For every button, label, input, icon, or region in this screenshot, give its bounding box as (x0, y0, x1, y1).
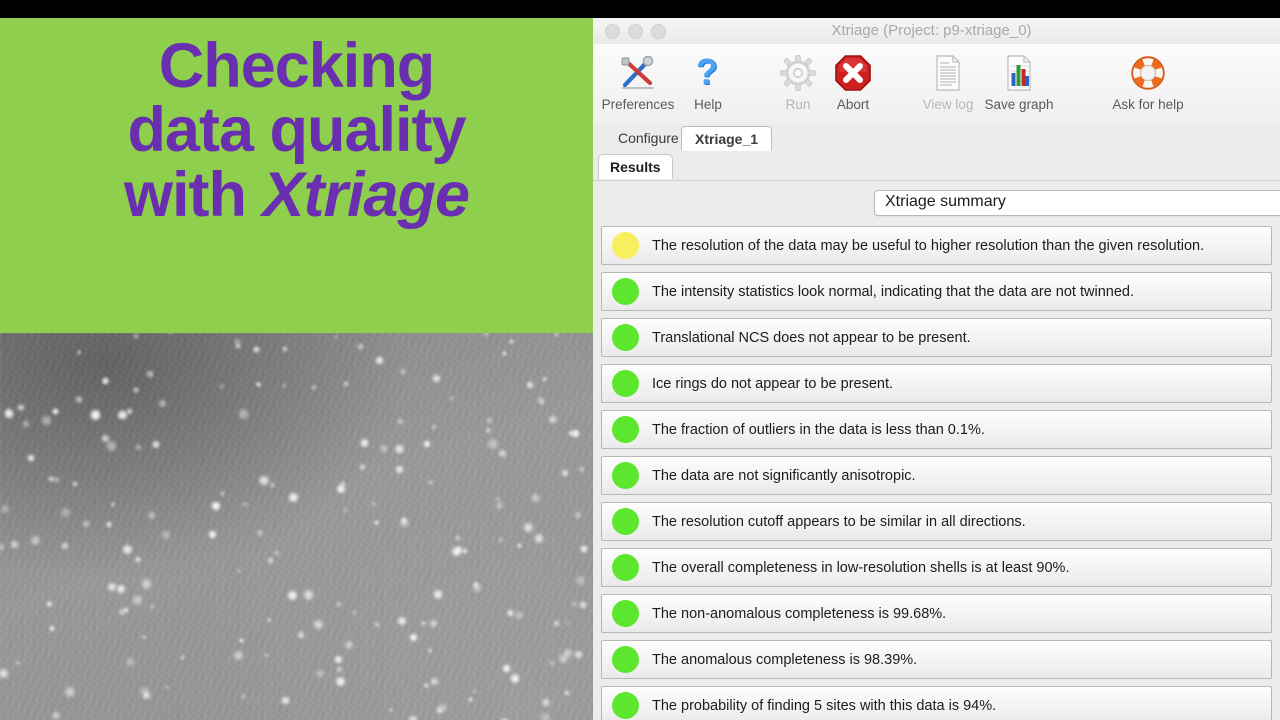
screenshot-root: Checking data quality with Xtriage Xtria… (0, 0, 1280, 720)
window-titlebar: Xtriage (Project: p9-xtriage_0) (593, 18, 1280, 45)
tab-configure[interactable]: Configure (605, 126, 692, 151)
result-row-text: The fraction of outliers in the data is … (652, 422, 985, 438)
diffraction-spot (486, 428, 491, 433)
result-row[interactable]: Translational NCS does not appear to be … (601, 318, 1272, 357)
diffraction-spot (46, 601, 52, 607)
svg-text:?: ? (696, 52, 718, 92)
diffraction-spot (4, 408, 14, 418)
title-line-3: with Xtriage (0, 163, 593, 227)
diffraction-spot (297, 631, 305, 639)
diffraction-spot (408, 715, 418, 720)
diffraction-spot (394, 444, 404, 454)
diffraction-spot (106, 521, 112, 527)
diffraction-spot (432, 374, 441, 383)
diffraction-spot (141, 578, 152, 589)
window-title: Xtriage (Project: p9-xtriage_0) (593, 22, 1280, 39)
diffraction-spot (238, 408, 249, 419)
diffraction-spot (523, 522, 534, 533)
diffraction-spot (424, 683, 428, 687)
diffraction-spot (421, 621, 426, 626)
diffraction-spot (48, 476, 55, 483)
diffraction-spot (0, 668, 9, 679)
diffraction-spot (540, 712, 551, 720)
diffraction-spot (75, 396, 82, 403)
diffraction-spot (161, 530, 171, 540)
status-ok-icon (612, 462, 639, 489)
diffraction-spot (180, 655, 185, 660)
status-ok-icon (612, 554, 639, 581)
diffraction-spot (106, 440, 117, 451)
xtriage-summary-select[interactable]: Xtriage summary (874, 190, 1280, 216)
diffraction-spot (334, 655, 343, 664)
result-row[interactable]: The intensity statistics look normal, in… (601, 272, 1272, 311)
diffraction-spot (548, 415, 557, 424)
diffraction-spot (122, 544, 133, 555)
status-ok-icon (612, 278, 639, 305)
diffraction-image (0, 333, 593, 720)
xtriage-application-window: Xtriage (Project: p9-xtriage_0) Preferen… (593, 18, 1280, 720)
diffraction-spot (502, 351, 507, 356)
toolbar-label-abort: Abort (810, 97, 896, 112)
diffraction-spot (389, 708, 393, 712)
diffraction-spot (553, 620, 560, 627)
diffraction-spot (165, 685, 170, 690)
result-row-text: The non-anomalous completeness is 99.68%… (652, 606, 946, 622)
toolbar-label-help: Help (665, 97, 751, 112)
diffraction-spot (433, 589, 444, 600)
toolbar-label-save-graph: Save graph (976, 97, 1062, 112)
diffraction-spot (219, 384, 224, 389)
result-row[interactable]: Ice rings do not appear to be present. (601, 364, 1272, 403)
diffraction-spot (61, 542, 69, 550)
diffraction-spot (399, 368, 406, 375)
status-ok-icon (612, 646, 639, 673)
title-line-3-italic: Xtriage (262, 160, 469, 230)
diffraction-spot (564, 690, 570, 696)
diffraction-spot (472, 689, 477, 694)
diffraction-spot (282, 383, 286, 387)
diffraction-spot (436, 707, 443, 714)
result-row-text: Translational NCS does not appear to be … (652, 330, 971, 346)
result-row[interactable]: The overall completeness in low-resoluti… (601, 548, 1272, 587)
result-row-text: The intensity statistics look normal, in… (652, 284, 1134, 300)
status-ok-icon (612, 692, 639, 719)
diffraction-spot (514, 610, 524, 620)
diffraction-spot (572, 601, 578, 607)
title-line-2: data quality (0, 98, 593, 162)
diffraction-spot (208, 530, 217, 539)
diffraction-spot (534, 533, 544, 543)
diffraction-spot (561, 469, 569, 477)
diffraction-spot (542, 376, 548, 382)
diffraction-spot (359, 464, 365, 470)
diffraction-spot (256, 382, 261, 387)
result-row[interactable]: The non-anomalous completeness is 99.68%… (601, 594, 1272, 633)
results-list: The resolution of the data may be useful… (593, 226, 1280, 720)
diffraction-spot (575, 575, 586, 586)
diffraction-spot (357, 343, 364, 350)
status-ok-icon (612, 508, 639, 535)
diffraction-spot (0, 543, 5, 551)
diffraction-spot (233, 650, 244, 661)
diffraction-spot (126, 657, 135, 666)
diffraction-spot (375, 356, 384, 365)
result-row-text: The anomalous completeness is 98.39%. (652, 652, 917, 668)
diffraction-spot (343, 381, 349, 387)
diffraction-spot (526, 381, 534, 389)
toolbar: Preferences ? ? Help (593, 44, 1280, 125)
result-row-text: Ice rings do not appear to be present. (652, 376, 893, 392)
diffraction-spot (554, 333, 559, 337)
diffraction-spot (531, 493, 541, 503)
diffraction-spot (344, 640, 354, 650)
diffraction-spot (133, 333, 139, 339)
diffraction-spot (147, 511, 155, 519)
diffraction-spot (430, 677, 438, 685)
diffraction-spot (133, 387, 138, 392)
result-row[interactable]: The anomalous completeness is 98.39%. (601, 640, 1272, 679)
toolbar-button-ask-for-help[interactable]: Ask for help (1105, 50, 1191, 112)
status-warning-icon (612, 232, 639, 259)
status-ok-icon (612, 600, 639, 627)
diffraction-spot (264, 653, 269, 658)
diffraction-spot (315, 669, 325, 679)
life-ring-icon (1105, 50, 1191, 96)
diffraction-spot (566, 621, 570, 625)
diffraction-spot (132, 594, 143, 605)
status-ok-icon (612, 416, 639, 443)
diffraction-spot (455, 535, 461, 541)
diffraction-spot (117, 410, 127, 420)
result-row-text: The resolution cutoff appears to be simi… (652, 514, 1026, 530)
toolbar-label-ask-for-help: Ask for help (1105, 97, 1191, 112)
diffraction-spot (395, 465, 404, 474)
diffraction-spot (52, 711, 61, 720)
result-row[interactable]: The probability of finding 5 sites with … (601, 686, 1272, 720)
diffraction-spot (16, 661, 20, 665)
diffraction-spot (0, 504, 9, 513)
diffraction-spot (77, 350, 82, 355)
diffraction-spot (510, 673, 521, 684)
diffraction-spot (234, 338, 241, 345)
diffraction-spot (352, 610, 356, 614)
sub-tab-strip: Results (593, 152, 1280, 180)
toolbar-button-abort[interactable]: Abort (810, 50, 896, 112)
result-row[interactable]: The data are not significantly anisotrop… (601, 456, 1272, 495)
stop-octagon-icon (810, 50, 896, 96)
diffraction-spot (495, 501, 504, 510)
diffraction-spot (311, 385, 316, 390)
diffraction-spot (374, 622, 380, 628)
diffraction-spot (423, 440, 431, 448)
result-row-text: The probability of finding 5 sites with … (652, 698, 996, 714)
results-panel-header: Xtriage summary (593, 180, 1280, 227)
diffraction-spot (146, 370, 154, 378)
result-row-text: The overall completeness in low-resoluti… (652, 560, 1069, 576)
diffraction-spot (507, 609, 514, 616)
diffraction-spot (27, 454, 34, 461)
page-title: Checking data quality with Xtriage (0, 34, 593, 227)
diffraction-spot (313, 619, 324, 630)
diffraction-spot (360, 438, 369, 447)
diffraction-spot (486, 417, 493, 424)
diffraction-spot (82, 520, 90, 528)
question-mark-icon: ? ? (665, 50, 751, 96)
diffraction-spot (399, 518, 410, 529)
diffraction-spot (72, 481, 78, 487)
diffraction-spot (116, 584, 126, 594)
diffraction-spot (90, 409, 102, 421)
diffraction-spot (502, 664, 511, 673)
result-row[interactable]: The resolution cutoff appears to be simi… (601, 502, 1272, 541)
status-ok-icon (612, 370, 639, 397)
title-line-3-plain: with (124, 160, 262, 230)
bar-chart-document-icon (976, 50, 1062, 96)
tab-xtriage-1[interactable]: Xtriage_1 (681, 126, 772, 151)
diffraction-spot (211, 501, 220, 510)
main-tab-strip: Configure Xtriage_1 (593, 124, 1280, 153)
diffraction-spot (571, 429, 579, 437)
title-slide-panel: Checking data quality with Xtriage (0, 18, 593, 720)
status-ok-icon (612, 324, 639, 351)
result-row[interactable]: The resolution of the data may be useful… (601, 226, 1272, 265)
result-row[interactable]: The fraction of outliers in the data is … (601, 410, 1272, 449)
diffraction-spot (150, 604, 155, 609)
tab-results[interactable]: Results (598, 154, 673, 179)
title-line-1: Checking (0, 34, 593, 98)
diffraction-spot (337, 602, 341, 606)
toolbar-button-save-graph[interactable]: Save graph (976, 50, 1062, 112)
result-row-text: The resolution of the data may be useful… (652, 238, 1204, 254)
result-row-text: The data are not significantly anisotrop… (652, 468, 916, 484)
diffraction-spot (336, 484, 346, 494)
diffraction-spot (102, 377, 109, 384)
letterbox-top-bar (0, 0, 1280, 18)
diffraction-spot (539, 399, 544, 404)
toolbar-button-help[interactable]: ? ? Help (665, 50, 751, 112)
